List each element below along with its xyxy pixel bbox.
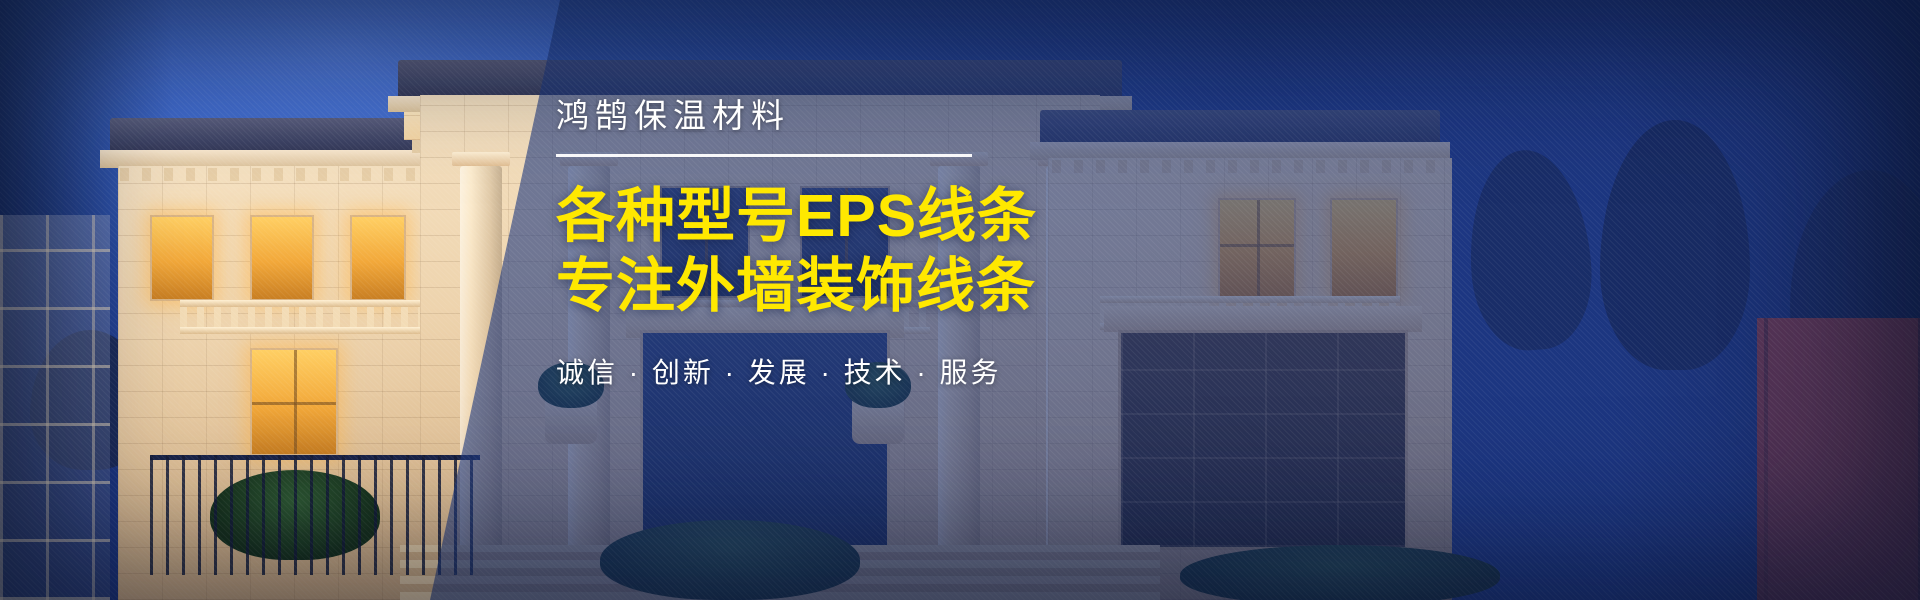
window-lit: [150, 215, 214, 301]
banner-text-block: 鸿鹄保温材料 各种型号EPS线条 专注外墙装饰线条 诚信 · 创新 · 发展 ·…: [556, 96, 1076, 391]
garage-door: [1118, 330, 1408, 550]
window-lit: [1330, 198, 1398, 298]
headline-line-1: 各种型号EPS线条: [556, 181, 1076, 251]
red-wall-panel: [1757, 318, 1920, 600]
divider-rule: [556, 154, 972, 157]
left-wing-dentils: [120, 168, 432, 181]
window-lit: [350, 215, 406, 301]
window-lit: [250, 348, 338, 456]
iron-fence: [150, 455, 480, 575]
scaffold-structure: [0, 215, 110, 600]
headline-line-2: 专注外墙装饰线条: [556, 251, 1076, 321]
headline: 各种型号EPS线条 专注外墙装饰线条: [556, 181, 1076, 321]
right-wing-dentils: [1052, 160, 1448, 173]
window-lit: [1218, 198, 1296, 298]
tagline: 诚信 · 创新 · 发展 · 技术 · 服务: [556, 351, 1076, 391]
hedge: [1180, 545, 1500, 600]
brand-name: 鸿鹄保温材料: [556, 96, 1076, 136]
column-capital: [452, 152, 510, 166]
window-lit: [250, 215, 314, 301]
hedge: [600, 520, 860, 600]
hero-banner: 鸿鹄保温材料 各种型号EPS线条 专注外墙装饰线条 诚信 · 创新 · 发展 ·…: [0, 0, 1920, 600]
garage-lintel: [1104, 306, 1422, 332]
balustrade: [180, 300, 430, 334]
